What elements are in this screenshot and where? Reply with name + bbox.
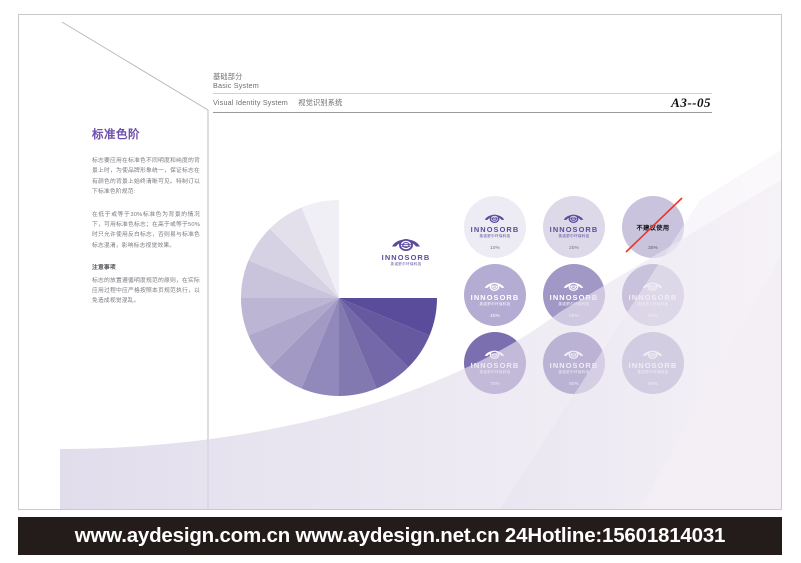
logo-wordmark: INNOSORB [550, 361, 599, 370]
swatch-percent-label: 10% [464, 245, 526, 250]
swatch-cell[interactable]: INNOSORB英诺舒尔环保科技40% [464, 264, 526, 326]
design-board-page: 基础部分 Basic System Visual Identity System… [0, 0, 801, 563]
logo-chinese-name: 英诺舒尔环保科技 [370, 262, 442, 267]
eye-lens-icon [484, 347, 505, 361]
header-system-line: Visual Identity System 视觉识别系统 [213, 98, 343, 108]
eye-lens-icon [391, 234, 421, 253]
swatch-logo: INNOSORB英诺舒尔环保科技 [629, 347, 678, 375]
footer-contact-text: www.aydesign.com.cn www.aydesign.net.cn … [75, 524, 726, 548]
swatch-grid: INNOSORB英诺舒尔环保科技10%INNOSORB英诺舒尔环保科技20%不建… [464, 196, 696, 396]
tint-fan-chart [239, 198, 439, 398]
eye-lens-icon [563, 347, 584, 361]
swatch-cell[interactable]: INNOSORB英诺舒尔环保科技70% [464, 332, 526, 394]
body-paragraph-1: 标志要应用在标准色不同明度和纯度的背景上时，为使品牌形象统一，保证标志在有颜色的… [92, 156, 200, 198]
page-title: 标准色阶 [92, 126, 200, 142]
header-divider-top [213, 93, 712, 94]
logo-chinese-name: 英诺舒尔环保科技 [550, 370, 599, 375]
page-code: A3--05 [671, 95, 711, 111]
fan-center-logo: INNOSORB 英诺舒尔环保科技 [370, 234, 442, 284]
logo-chinese-name: 英诺舒尔环保科技 [471, 302, 520, 307]
swatch-cell[interactable]: INNOSORB英诺舒尔环保科技20% [543, 196, 605, 258]
do-not-use-strike-icon [620, 194, 686, 260]
header-system-en: Visual Identity System [213, 98, 288, 107]
header-section-en: Basic System [213, 81, 713, 90]
eye-lens-icon [563, 211, 584, 225]
swatch-cell[interactable]: INNOSORB英诺舒尔环保科技90% [622, 332, 684, 394]
swatch-percent-label: 80% [543, 381, 605, 386]
logo-chinese-name: 英诺舒尔环保科技 [629, 302, 678, 307]
logo-wordmark: INNOSORB [471, 293, 520, 302]
note-heading: 注意事项 [92, 263, 200, 273]
logo-chinese-name: 英诺舒尔环保科技 [550, 302, 599, 307]
footer-bar: www.aydesign.com.cn www.aydesign.net.cn … [18, 517, 782, 555]
header-section-labels: 基础部分 Basic System [213, 72, 713, 90]
logo-wordmark: INNOSORB [629, 361, 678, 370]
logo-chinese-name: 英诺舒尔环保科技 [629, 370, 678, 375]
swatch-percent-label: 70% [464, 381, 526, 386]
logo-wordmark: INNOSORB [471, 225, 520, 234]
swatch-logo: INNOSORB英诺舒尔环保科技 [471, 211, 520, 239]
swatch-cell[interactable]: INNOSORB英诺舒尔环保科技60% [622, 264, 684, 326]
logo-chinese-name: 英诺舒尔环保科技 [550, 234, 599, 239]
logo-chinese-name: 英诺舒尔环保科技 [471, 370, 520, 375]
swatch-logo: INNOSORB英诺舒尔环保科技 [550, 279, 599, 307]
logo-wordmark: INNOSORB [370, 253, 442, 262]
body-paragraph-2: 在低于或等于30%标准色为背景的情况下，可用标准色标志；在高于或等于50%时只允… [92, 210, 200, 252]
eye-lens-icon [484, 211, 505, 225]
eye-lens-icon [563, 279, 584, 293]
header-divider-bottom [213, 112, 712, 113]
swatch-logo: INNOSORB英诺舒尔环保科技 [550, 211, 599, 239]
swatch-percent-label: 50% [543, 313, 605, 318]
swatch-cell[interactable]: 不建议使用30% [622, 196, 684, 258]
logo-chinese-name: 英诺舒尔环保科技 [471, 234, 520, 239]
note-body: 标志的放置遵循明度规范的原则，在实际应用过程中应严格按照本页规范执行，以免造成视… [92, 276, 200, 307]
header-system-cn: 视觉识别系统 [298, 98, 342, 107]
logo-wordmark: INNOSORB [471, 361, 520, 370]
swatch-cell[interactable]: INNOSORB英诺舒尔环保科技10% [464, 196, 526, 258]
logo-wordmark: INNOSORB [550, 225, 599, 234]
eye-lens-icon [484, 279, 505, 293]
swatch-logo: INNOSORB英诺舒尔环保科技 [629, 279, 678, 307]
swatch-logo: INNOSORB英诺舒尔环保科技 [471, 279, 520, 307]
swatch-logo: INNOSORB英诺舒尔环保科技 [471, 347, 520, 375]
swatch-cell[interactable]: INNOSORB英诺舒尔环保科技50% [543, 264, 605, 326]
swatch-logo: INNOSORB英诺舒尔环保科技 [550, 347, 599, 375]
eye-lens-icon [642, 279, 663, 293]
swatch-percent-label: 40% [464, 313, 526, 318]
header-section-cn: 基础部分 [213, 72, 713, 81]
swatch-percent-label: 60% [622, 313, 684, 318]
left-text-column: 标准色阶 标志要应用在标准色不同明度和纯度的背景上时，为使品牌形象统一，保证标志… [92, 126, 200, 319]
swatch-cell[interactable]: INNOSORB英诺舒尔环保科技80% [543, 332, 605, 394]
logo-wordmark: INNOSORB [550, 293, 599, 302]
swatch-percent-label: 20% [543, 245, 605, 250]
eye-lens-icon [642, 347, 663, 361]
logo-wordmark: INNOSORB [629, 293, 678, 302]
swatch-percent-label: 90% [622, 381, 684, 386]
fan-wedge-group [241, 200, 437, 396]
